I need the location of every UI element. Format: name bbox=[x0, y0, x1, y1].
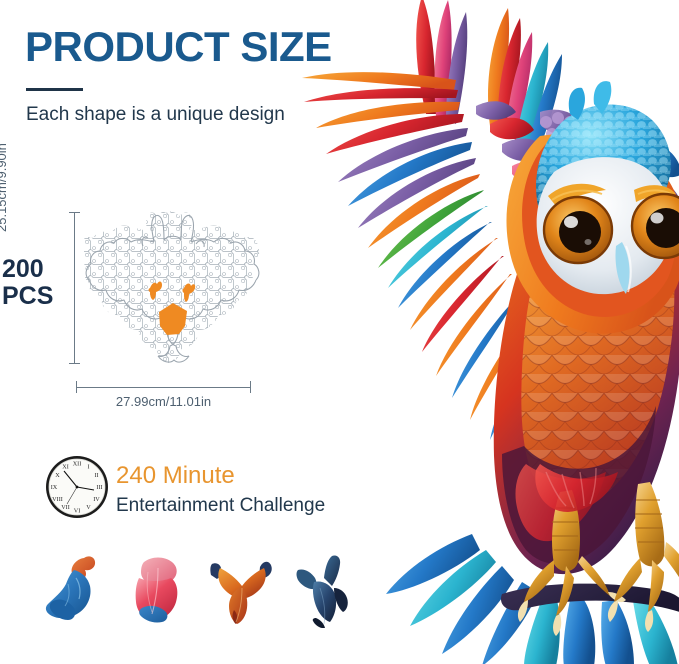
title-divider bbox=[26, 88, 83, 91]
analog-clock-icon: XII I II III IV V VI VII VIII IX X XI bbox=[44, 454, 110, 520]
svg-text:IX: IX bbox=[51, 484, 58, 491]
width-dimension-label: 27.99cm/11.01in bbox=[76, 394, 251, 409]
puzzle-outline-diagram bbox=[84, 206, 264, 371]
svg-text:VII: VII bbox=[61, 504, 70, 511]
piece-count-number: 200 bbox=[2, 256, 53, 283]
piece-count-unit: PCS bbox=[2, 283, 53, 310]
height-dimension-label: 25.15cm/9.90in bbox=[0, 143, 9, 232]
width-dimension-line bbox=[76, 380, 251, 394]
svg-text:XI: XI bbox=[62, 464, 69, 471]
sample-piece-pink-owl bbox=[124, 548, 196, 628]
svg-text:V: V bbox=[86, 504, 91, 511]
dimension-rule-vertical bbox=[74, 212, 75, 364]
svg-text:X: X bbox=[55, 472, 60, 479]
product-size-infographic: { "header": { "title": "PRODUCT SIZE", "… bbox=[0, 0, 679, 664]
sample-piece-navy-bird bbox=[290, 548, 362, 628]
svg-text:I: I bbox=[87, 464, 89, 471]
challenge-duration: 240 Minute bbox=[116, 462, 235, 490]
crest-plumes bbox=[416, 0, 562, 154]
sample-pieces-row bbox=[40, 548, 360, 628]
page-subtitle: Each shape is a unique design bbox=[26, 104, 285, 126]
svg-text:XII: XII bbox=[73, 461, 82, 468]
challenge-caption: Entertainment Challenge bbox=[116, 495, 325, 517]
dimension-cap-bottom bbox=[69, 363, 80, 364]
height-dimension-line bbox=[66, 212, 82, 364]
svg-text:III: III bbox=[96, 484, 102, 491]
svg-text:VIII: VIII bbox=[52, 496, 63, 503]
page-title: PRODUCT SIZE bbox=[25, 26, 332, 68]
piece-count-badge: 200 PCS bbox=[2, 256, 53, 310]
dimension-rule-horizontal bbox=[76, 387, 251, 388]
svg-text:II: II bbox=[94, 472, 98, 479]
svg-text:VI: VI bbox=[74, 508, 81, 515]
sample-piece-blue-owl bbox=[40, 548, 112, 628]
sample-piece-orange-bird bbox=[206, 548, 278, 628]
dimension-cap-right bbox=[250, 381, 251, 393]
svg-text:IV: IV bbox=[93, 496, 100, 503]
